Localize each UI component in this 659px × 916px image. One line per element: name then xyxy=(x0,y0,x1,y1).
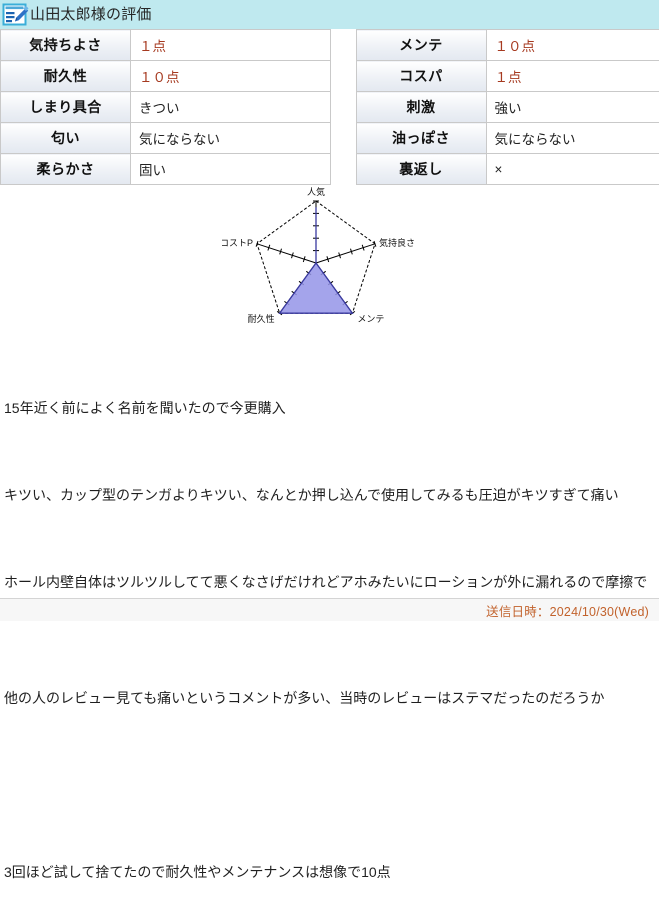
edit-note-icon xyxy=(2,2,29,27)
table-row: 裏返し × xyxy=(331,154,659,185)
review-header: 山田太郎様の評価 xyxy=(0,0,659,29)
table-row: しまり具合 きつい xyxy=(1,92,331,123)
radar-axis-label: 人気 xyxy=(307,186,325,197)
sent-datetime: 送信日時：2024/10/30(Wed) xyxy=(486,601,649,620)
page-title: 山田太郎様の評価 xyxy=(30,7,152,23)
spec-value: 気にならない xyxy=(486,123,659,154)
radar-axis-line xyxy=(257,244,316,263)
radar-axis-label: コストP xyxy=(222,238,253,248)
spec-tables: 気持ちよさ １点 耐久性 １０点 しまり具合 きつい 匂い 気にならない 柔らか… xyxy=(0,29,659,185)
table-row: 耐久性 １０点 xyxy=(1,61,331,92)
table-row: 刺激 強い xyxy=(331,92,659,123)
spec-key: 油っぽさ xyxy=(356,123,486,154)
table-spacer xyxy=(331,123,356,154)
spec-table-right: メンテ １０点 コスパ １点 刺激 強い 油っぽさ 気にならない 裏返し xyxy=(331,29,659,185)
review-paragraph: 15年近く前によく名前を聞いたので今更購入 xyxy=(4,394,655,423)
table-spacer xyxy=(331,154,356,185)
table-row: コスパ １点 xyxy=(331,61,659,92)
table-spacer xyxy=(331,92,356,123)
radar-axis-label: 耐久性 xyxy=(248,313,275,324)
review-paragraph: キツい、カップ型のテンガよりキツい、なんとか押し込んで使用してみるも圧迫がキツす… xyxy=(4,481,655,510)
spec-key: 裏返し xyxy=(356,154,486,185)
spec-value: １０点 xyxy=(486,30,659,61)
table-row: 柔らかさ 固い xyxy=(1,154,331,185)
spec-key: 柔らかさ xyxy=(1,154,131,185)
spec-value: 気にならない xyxy=(131,123,331,154)
review-paragraph: 他の人のレビュー見ても痛いというコメントが多い、当時のレビューはステマだったのだ… xyxy=(4,684,655,713)
spec-key: 気持ちよさ xyxy=(1,30,131,61)
spec-value: １点 xyxy=(131,30,331,61)
spec-key: メンテ xyxy=(356,30,486,61)
spec-value: 固い xyxy=(131,154,331,185)
review-paragraph: 3回ほど試して捨てたので耐久性やメンテナンスは想像で10点 xyxy=(4,858,655,887)
spec-key: しまり具合 xyxy=(1,92,131,123)
table-spacer xyxy=(331,61,356,92)
radar-chart-area: 人気気持良さメンテ耐久性コストP xyxy=(0,185,659,330)
table-row: 油っぽさ 気にならない xyxy=(331,123,659,154)
review-body: 15年近く前によく名前を聞いたので今更購入 キツい、カップ型のテンガよりキツい、… xyxy=(0,330,659,916)
radar-data-polygon xyxy=(280,207,353,313)
spec-value: きつい xyxy=(131,92,331,123)
radar-chart: 人気気持良さメンテ耐久性コストP xyxy=(222,185,437,330)
spec-value: １０点 xyxy=(131,61,331,92)
radar-axis-label: 気持良さ xyxy=(379,237,415,248)
spec-value: × xyxy=(486,154,659,185)
spec-value: 強い xyxy=(486,92,659,123)
spec-value: １点 xyxy=(486,61,659,92)
table-row: 匂い 気にならない xyxy=(1,123,331,154)
spec-key: 匂い xyxy=(1,123,131,154)
spec-key: 刺激 xyxy=(356,92,486,123)
table-row: メンテ １０点 xyxy=(331,30,659,61)
table-row: 気持ちよさ １点 xyxy=(1,30,331,61)
spec-key: 耐久性 xyxy=(1,61,131,92)
review-paragraph-blank xyxy=(4,771,655,800)
review-footer: 送信日時：2024/10/30(Wed) xyxy=(0,598,659,621)
spec-table-left: 気持ちよさ １点 耐久性 １０点 しまり具合 きつい 匂い 気にならない 柔らか… xyxy=(0,29,331,185)
spec-key: コスパ xyxy=(356,61,486,92)
table-spacer xyxy=(331,30,356,61)
radar-axis-line xyxy=(316,244,375,263)
radar-axis-label: メンテ xyxy=(357,314,384,324)
